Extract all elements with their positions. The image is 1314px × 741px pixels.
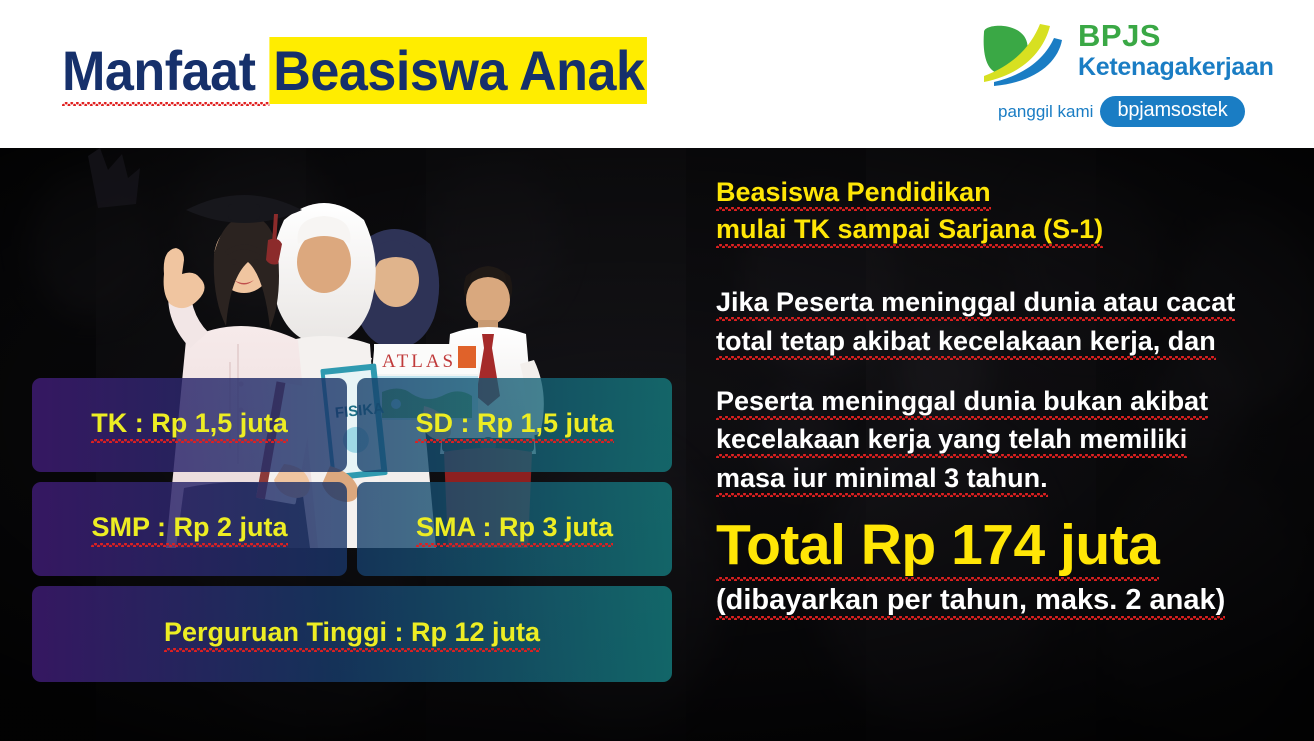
benefit-box-tk-label: TK : Rp 1,5 juta	[91, 408, 288, 443]
panel-paragraph-1: Jika Peserta meninggal dunia atau cacat …	[716, 283, 1296, 360]
spacer	[716, 247, 1296, 283]
panel-paragraph-2: Peserta meninggal dunia bukan akibat kec…	[716, 382, 1296, 497]
bpjs-leaf-swoosh-logo-icon	[978, 22, 1074, 88]
header-bar: Manfaat Beasiswa Anak BPJS Ketenagakerja…	[0, 0, 1314, 148]
benefit-boxes: TK : Rp 1,5 juta SD : Rp 1,5 juta SMP : …	[32, 378, 672, 692]
spacer	[716, 360, 1296, 382]
page-title-plain: Manfaat	[62, 39, 270, 106]
bpjs-logo: BPJS Ketenagakerjaan panggil kami bpjams…	[978, 18, 1278, 128]
panel-total-amount: Total Rp 174 juta	[716, 515, 1296, 577]
panel-paragraph-2-line1: Peserta meninggal dunia bukan akibat	[716, 386, 1208, 420]
benefit-row-3: Perguruan Tinggi : Rp 12 juta	[32, 586, 672, 682]
logo-tagline-prefix: panggil kami	[998, 102, 1093, 122]
svg-text:ATLAS: ATLAS	[382, 351, 456, 372]
panel-paragraph-1-line1: Jika Peserta meninggal dunia atau cacat	[716, 287, 1235, 321]
panel-heading: Beasiswa Pendidikan mulai TK sampai Sarj…	[716, 174, 1296, 247]
benefit-box-perguruan-tinggi[interactable]: Perguruan Tinggi : Rp 12 juta	[32, 586, 672, 682]
benefit-box-sd[interactable]: SD : Rp 1,5 juta	[357, 378, 672, 472]
benefit-box-sd-label: SD : Rp 1,5 juta	[415, 408, 613, 443]
panel-total-note: (dibayarkan per tahun, maks. 2 anak)	[716, 583, 1296, 618]
content-stage: ATLAS FISIKA	[0, 148, 1314, 741]
benefit-box-perguruan-tinggi-label: Perguruan Tinggi : Rp 12 juta	[164, 617, 540, 652]
logo-tagline: panggil kami bpjamsostek	[998, 96, 1245, 127]
benefit-box-smp[interactable]: SMP : Rp 2 juta	[32, 482, 347, 576]
logo-bpjamsostek-pill: bpjamsostek	[1100, 96, 1244, 127]
page-title-highlight: Beasiswa Anak	[270, 37, 648, 104]
panel-total-note-text: (dibayarkan per tahun, maks. 2 anak)	[716, 584, 1225, 620]
panel-heading-line1: Beasiswa Pendidikan	[716, 177, 991, 211]
benefit-box-sma-label: SMA : Rp 3 juta	[416, 512, 613, 547]
panel-paragraph-2-line2: kecelakaan kerja yang telah memiliki	[716, 424, 1187, 458]
panel-heading-line2: mulai TK sampai Sarjana (S-1)	[716, 214, 1103, 248]
panel-paragraph-1-line2: total tetap akibat kecelakaan kerja, dan	[716, 326, 1216, 360]
panel-paragraph-2-line3: masa iur minimal 3 tahun.	[716, 463, 1048, 497]
benefit-row-2: SMP : Rp 2 juta SMA : Rp 3 juta	[32, 482, 672, 576]
page-title: Manfaat Beasiswa Anak	[62, 38, 647, 103]
benefit-row-1: TK : Rp 1,5 juta SD : Rp 1,5 juta	[32, 378, 672, 472]
info-panel: Beasiswa Pendidikan mulai TK sampai Sarj…	[716, 174, 1296, 617]
logo-bpjs-text: BPJS	[1078, 20, 1274, 51]
logo-wordmark: BPJS Ketenagakerjaan	[1078, 20, 1274, 81]
panel-total-amount-text: Total Rp 174 juta	[716, 513, 1159, 581]
logo-ketenagakerjaan-text: Ketenagakerjaan	[1078, 53, 1274, 81]
silhouette-hand	[88, 148, 140, 208]
benefit-box-tk[interactable]: TK : Rp 1,5 juta	[32, 378, 347, 472]
benefit-box-sma[interactable]: SMA : Rp 3 juta	[357, 482, 672, 576]
benefit-box-smp-label: SMP : Rp 2 juta	[91, 512, 287, 547]
